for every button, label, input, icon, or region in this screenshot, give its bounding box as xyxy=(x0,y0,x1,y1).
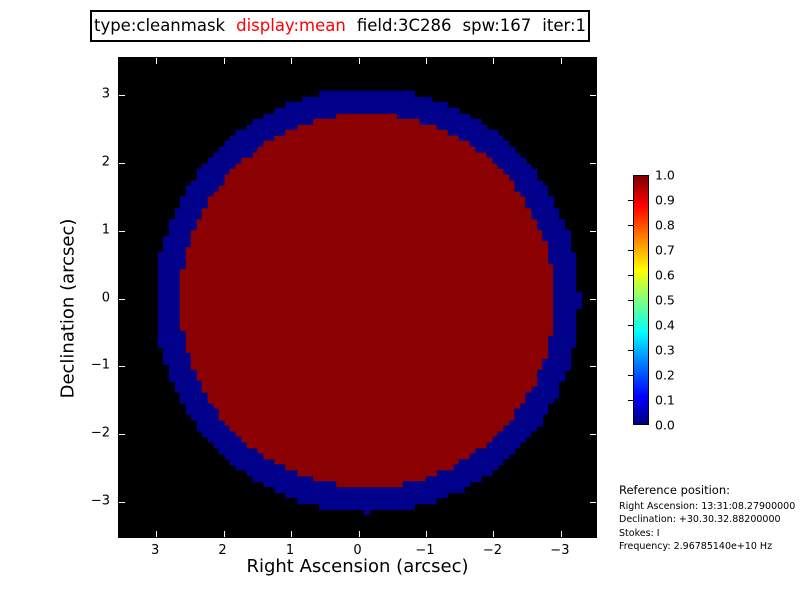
colorbar-tick xyxy=(628,250,633,251)
colorbar-tick-label: 0.6 xyxy=(655,268,675,283)
x-axis-tick xyxy=(291,58,292,64)
colorbar-tick-label: 0.8 xyxy=(655,218,675,233)
colorbar-tick xyxy=(628,350,633,351)
colorbar-tick xyxy=(628,300,633,301)
x-axis-tick xyxy=(156,531,157,537)
x-axis-tick xyxy=(426,531,427,537)
y-axis-tick-label: 1 xyxy=(84,222,110,237)
x-axis-tick xyxy=(156,58,157,64)
y-axis-tick-label: 0 xyxy=(84,290,110,305)
x-axis-tick xyxy=(561,531,562,537)
colorbar-tick xyxy=(628,375,633,376)
x-axis-tick xyxy=(426,58,427,64)
title-segment-spw: spw:167 xyxy=(463,18,532,35)
y-axis-tick xyxy=(119,163,125,164)
plot-title-box: type:cleanmask display:mean field:3C286 … xyxy=(90,10,590,42)
y-axis-tick xyxy=(590,434,596,435)
x-axis-tick xyxy=(359,531,360,537)
y-axis-tick xyxy=(590,95,596,96)
x-axis-tick xyxy=(561,58,562,64)
x-axis-tick xyxy=(493,531,494,537)
colorbar-tick-label: 0.3 xyxy=(655,343,675,358)
colorbar[interactable]: 1.00.90.80.70.60.50.40.30.20.10.0 xyxy=(633,175,649,425)
colorbar-tick xyxy=(628,325,633,326)
x-axis-label: Right Ascension (arcsec) xyxy=(118,556,597,577)
y-axis-tick xyxy=(590,231,596,232)
title-segment-field: field:3C286 xyxy=(357,18,452,35)
reference-position-line: Stokes: I xyxy=(619,527,799,540)
colorbar-tick-label: 0.2 xyxy=(655,368,675,383)
x-axis-tick xyxy=(493,58,494,64)
reference-position-line: Declination: +30.30.32.88200000 xyxy=(619,513,799,526)
x-axis-tick xyxy=(359,58,360,64)
title-segment-display: display:mean xyxy=(236,18,346,35)
colorbar-tick-label: 1.0 xyxy=(655,168,675,183)
image-plot-area[interactable] xyxy=(118,57,597,538)
reference-position-line: Right Ascension: 13:31:08.27900000 xyxy=(619,500,799,513)
x-axis-tick xyxy=(224,531,225,537)
y-axis-tick xyxy=(590,502,596,503)
y-axis-tick-label: −1 xyxy=(84,358,110,373)
y-axis-tick xyxy=(119,502,125,503)
y-axis-tick xyxy=(119,366,125,367)
colorbar-tick-label: 0.7 xyxy=(655,243,675,258)
x-axis-tick xyxy=(291,531,292,537)
reference-position-line: Frequency: 2.96785140e+10 Hz xyxy=(619,540,799,553)
title-segment-iter: iter:1 xyxy=(542,18,586,35)
y-axis-tick xyxy=(119,231,125,232)
colorbar-gradient xyxy=(633,175,649,425)
reference-position-list: Right Ascension: 13:31:08.27900000Declin… xyxy=(619,500,799,554)
y-axis-tick-label: 2 xyxy=(84,155,110,170)
colorbar-tick xyxy=(628,275,633,276)
reference-position-title: Reference position: xyxy=(619,483,799,497)
colorbar-tick-label: 0.1 xyxy=(655,393,675,408)
y-axis-tick xyxy=(119,299,125,300)
y-axis-tick-label: 3 xyxy=(84,87,110,102)
colorbar-tick-label: 0.5 xyxy=(655,293,675,308)
y-axis-tick xyxy=(590,163,596,164)
cleanmask-image[interactable] xyxy=(119,58,596,537)
y-axis-tick xyxy=(590,299,596,300)
y-axis-tick-label: −2 xyxy=(84,425,110,440)
y-axis-label: Declination (arcsec) xyxy=(58,179,79,439)
x-axis-tick xyxy=(224,58,225,64)
y-axis-tick xyxy=(590,366,596,367)
colorbar-tick-label: 0.4 xyxy=(655,318,675,333)
reference-position-block: Reference position: Right Ascension: 13:… xyxy=(619,483,799,554)
colorbar-tick-label: 0.0 xyxy=(655,418,675,433)
y-axis-tick-label: −3 xyxy=(84,493,110,508)
colorbar-tick xyxy=(628,225,633,226)
y-axis-tick xyxy=(119,434,125,435)
colorbar-tick-label: 0.9 xyxy=(655,193,675,208)
colorbar-tick xyxy=(628,200,633,201)
colorbar-tick xyxy=(628,400,633,401)
y-axis-tick xyxy=(119,95,125,96)
title-segment-type: type:cleanmask xyxy=(94,18,225,35)
